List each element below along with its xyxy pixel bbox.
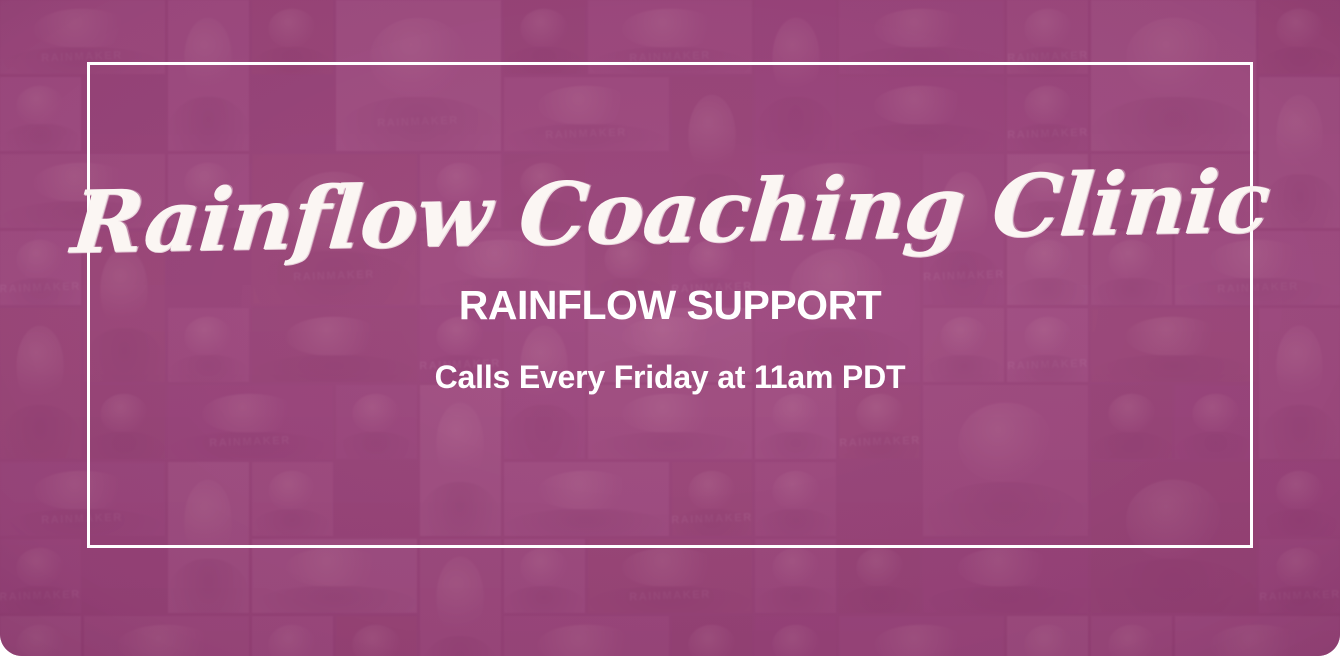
headline-text: RAINFLOW SUPPORT bbox=[459, 284, 881, 327]
banner-text-block: Rainflow Coaching Clinic RAINFLOW SUPPOR… bbox=[87, 62, 1253, 548]
script-title: Rainflow Coaching Clinic bbox=[68, 160, 1272, 267]
rainflow-coaching-clinic-banner: RAINMAKERRAINMAKERRAINMAKERRAINMAKERRAIN… bbox=[0, 0, 1340, 656]
subline-schedule-text: Calls Every Friday at 11am PDT bbox=[435, 361, 906, 395]
